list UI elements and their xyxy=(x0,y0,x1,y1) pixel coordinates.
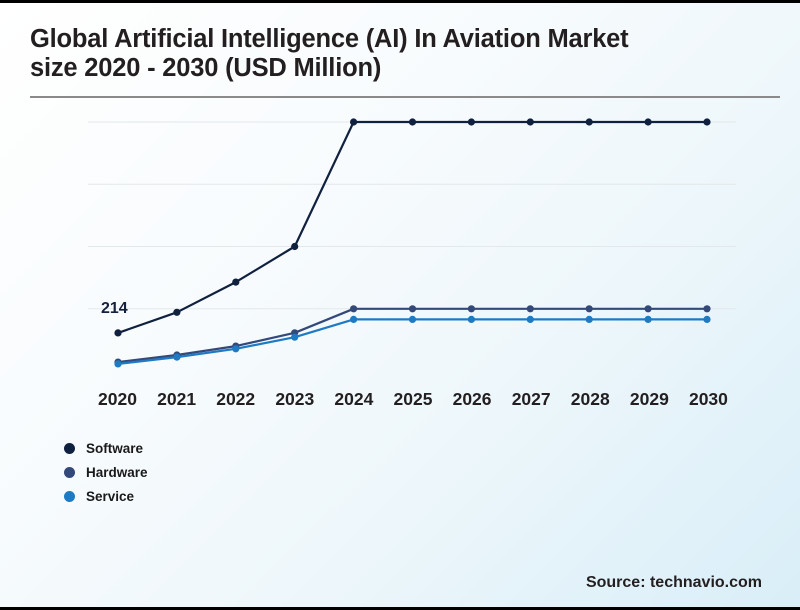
legend-item-software[interactable]: Software xyxy=(64,436,148,460)
x-tick-label-2020: 2020 xyxy=(88,389,147,410)
data-point-service-2022 xyxy=(232,345,239,352)
series-markers-group xyxy=(114,118,710,367)
data-point-software-2029 xyxy=(645,118,652,125)
line-chart-svg xyxy=(0,3,800,443)
data-point-software-2022 xyxy=(232,279,239,286)
data-point-service-2025 xyxy=(409,316,416,323)
x-tick-label-2023: 2023 xyxy=(265,389,324,410)
data-point-service-2030 xyxy=(703,316,710,323)
data-point-service-2028 xyxy=(586,316,593,323)
legend-label: Service xyxy=(86,489,134,504)
data-point-hardware-2024 xyxy=(350,305,357,312)
data-point-hardware-2026 xyxy=(468,305,475,312)
source-note: Source: technavio.com xyxy=(586,574,762,592)
data-point-software-2027 xyxy=(527,118,534,125)
data-point-hardware-2029 xyxy=(645,305,652,312)
x-tick-label-2025: 2025 xyxy=(383,389,442,410)
data-label-software-2020: 214 xyxy=(101,300,128,318)
x-axis-tick-labels: 2020202120222023202420252026202720282029… xyxy=(88,389,738,410)
data-point-hardware-2025 xyxy=(409,305,416,312)
legend-swatch-icon xyxy=(64,491,75,502)
x-tick-label-2027: 2027 xyxy=(502,389,561,410)
legend-item-service[interactable]: Service xyxy=(64,484,148,508)
data-point-hardware-2027 xyxy=(527,305,534,312)
legend-swatch-icon xyxy=(64,467,75,478)
x-tick-label-2028: 2028 xyxy=(561,389,620,410)
legend-label: Software xyxy=(86,441,143,456)
data-point-service-2026 xyxy=(468,316,475,323)
x-tick-label-2021: 2021 xyxy=(147,389,206,410)
data-point-service-2024 xyxy=(350,316,357,323)
data-point-software-2021 xyxy=(173,309,180,316)
series-line-service xyxy=(118,319,707,364)
data-point-software-2020 xyxy=(114,329,121,336)
chart-legend: SoftwareHardwareService xyxy=(64,436,148,508)
data-point-software-2023 xyxy=(291,243,298,250)
data-point-software-2028 xyxy=(586,118,593,125)
data-point-hardware-2030 xyxy=(703,305,710,312)
data-point-software-2026 xyxy=(468,118,475,125)
data-point-software-2024 xyxy=(350,118,357,125)
x-tick-label-2022: 2022 xyxy=(206,389,265,410)
x-tick-label-2030: 2030 xyxy=(679,389,738,410)
data-point-software-2025 xyxy=(409,118,416,125)
series-line-software xyxy=(118,122,707,333)
chart-plot-area: 214 202020212022202320242025202620272028… xyxy=(0,3,800,443)
data-point-service-2020 xyxy=(114,360,121,367)
infographic-root: Global Artificial Intelligence (AI) In A… xyxy=(0,0,800,610)
series-lines-group xyxy=(118,122,707,364)
gridlines-group xyxy=(88,122,736,309)
data-point-service-2029 xyxy=(645,316,652,323)
data-point-software-2030 xyxy=(703,118,710,125)
x-tick-label-2029: 2029 xyxy=(620,389,679,410)
legend-label: Hardware xyxy=(86,465,148,480)
data-point-service-2023 xyxy=(291,334,298,341)
legend-swatch-icon xyxy=(64,443,75,454)
x-tick-label-2026: 2026 xyxy=(443,389,502,410)
x-tick-label-2024: 2024 xyxy=(324,389,383,410)
data-point-service-2027 xyxy=(527,316,534,323)
data-point-service-2021 xyxy=(173,354,180,361)
legend-item-hardware[interactable]: Hardware xyxy=(64,460,148,484)
data-point-hardware-2028 xyxy=(586,305,593,312)
